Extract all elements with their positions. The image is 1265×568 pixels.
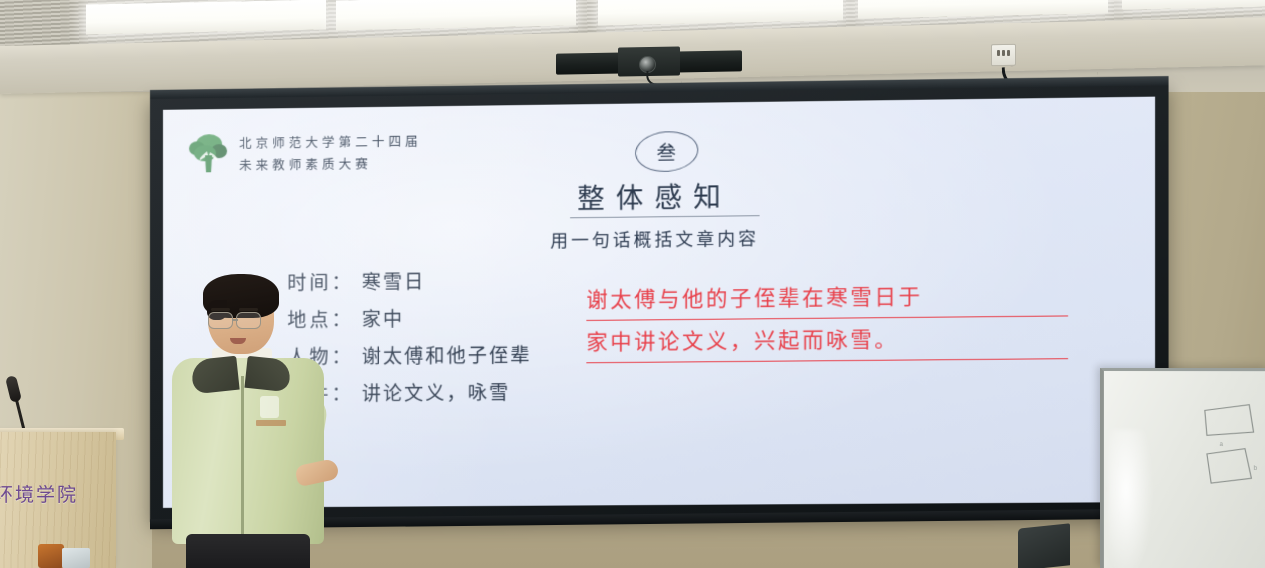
- brand-line-2: 未来教师素质大赛: [239, 152, 422, 173]
- slide-title: 整体感知: [163, 170, 1155, 221]
- classroom-scene: 北京师范大学第二十四届 未来教师素质大赛 叁 整体感知 用一句话概括文章内容 时…: [0, 0, 1265, 568]
- presenter-chest-emblem-text: [256, 420, 286, 426]
- summary-answer-text: 谢太傅与他的子侄辈在寒雪日于 家中讲论文义，兴起而咏雪。: [586, 279, 1068, 363]
- brand-text-block: 北京师范大学第二十四届 未来教师素质大赛: [239, 130, 422, 173]
- presenter-trousers: [186, 534, 310, 568]
- fact-value: 家中: [362, 305, 404, 333]
- podium-object-white: [62, 548, 90, 568]
- whiteboard-glare: [1108, 429, 1154, 568]
- whiteboard: a b: [1100, 368, 1265, 568]
- ceiling-light-panel: [336, 0, 576, 31]
- svg-text:b: b: [1254, 466, 1258, 473]
- brand-line-1: 北京师范大学第二十四届: [239, 130, 422, 151]
- fact-value: 讲论文义，咏雪: [362, 378, 511, 406]
- podium-department-label: 环境学院: [0, 480, 86, 507]
- fact-value: 谢太傅和他子侄辈: [362, 341, 532, 370]
- fact-value: 寒雪日: [362, 267, 426, 295]
- presenter-glasses-bridge: [233, 319, 238, 321]
- section-number-badge: 叁: [635, 131, 698, 172]
- presenter-jacket-zipper: [241, 376, 244, 542]
- slide-subtitle: 用一句话概括文章内容: [163, 221, 1155, 257]
- presenter-eyebrow-right: [239, 308, 258, 311]
- podium-object-orange: [38, 544, 64, 568]
- svg-text:a: a: [1220, 442, 1224, 448]
- ceiling-light-panel: [86, 0, 326, 35]
- section-number-text: 叁: [657, 138, 677, 166]
- bnu-tree-logo-icon: [187, 131, 229, 176]
- summary-line: 谢太傅与他的子侄辈在寒雪日于: [586, 279, 1068, 321]
- slide-brand-header: 北京师范大学第二十四届 未来教师素质大赛: [187, 128, 422, 175]
- outlet-socket-holes: [997, 50, 1010, 57]
- presenter-eyebrow-left: [211, 308, 230, 311]
- presenter-glasses-left-lens: [208, 312, 233, 329]
- whiteboard-sketch-quadrilaterals: a b: [1201, 400, 1265, 498]
- presenter-chest-emblem: [260, 396, 279, 418]
- summary-line: 家中讲论文义，兴起而咏雪。: [586, 322, 1068, 364]
- presenter-person: [168, 276, 332, 568]
- chair-back: [1018, 523, 1070, 568]
- presenter-glasses-right-lens: [236, 312, 261, 329]
